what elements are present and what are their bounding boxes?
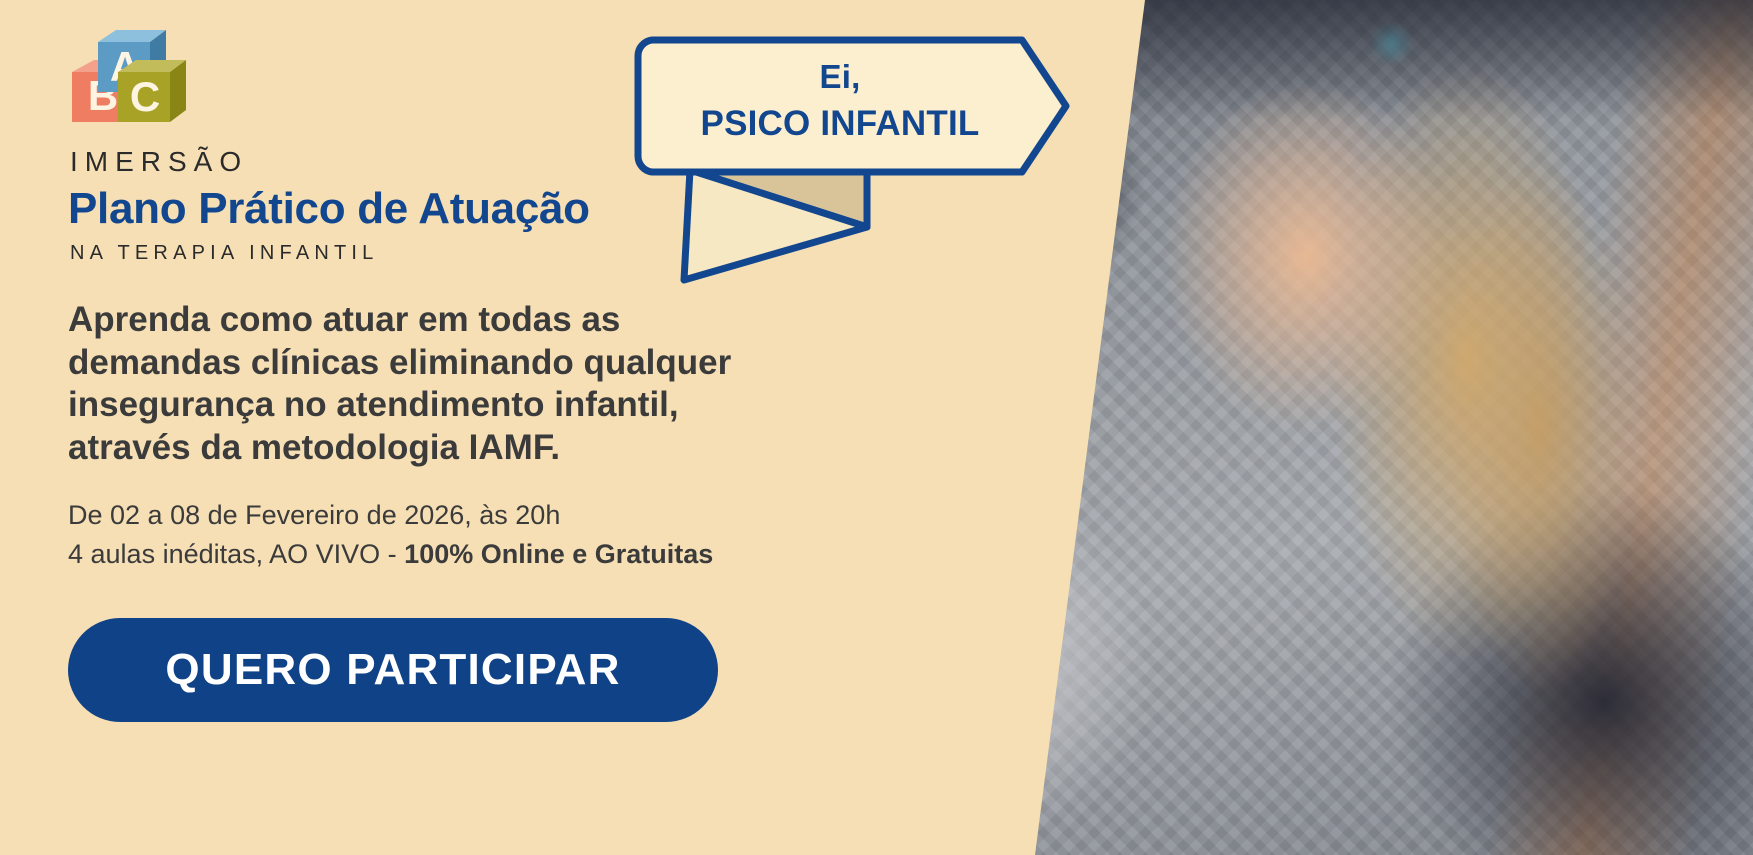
schedule-details-prefix: 4 aulas inéditas, AO VIVO - bbox=[68, 539, 404, 569]
bubble-line-1: Ei, bbox=[670, 58, 1010, 97]
schedule-details-highlight: 100% Online e Gratuitas bbox=[404, 539, 713, 569]
promo-banner: Ei, PSICO INFANTIL B A bbox=[0, 0, 1753, 855]
schedule-details: 4 aulas inéditas, AO VIVO - 100% Online … bbox=[68, 535, 700, 574]
svg-text:C: C bbox=[130, 73, 160, 120]
headline-text: Aprenda como atuar em todas as demandas … bbox=[68, 299, 798, 470]
abc-blocks-icon: B A C bbox=[68, 24, 198, 134]
bubble-line-2: PSICO INFANTIL bbox=[670, 103, 1010, 144]
quero-participar-button[interactable]: QUERO PARTICIPAR bbox=[68, 618, 718, 722]
page-title: Plano Prático de Atuação bbox=[68, 184, 700, 234]
page-subtitle: NA TERAPIA INFANTIL bbox=[70, 242, 700, 265]
content-column: B A C IMERSÃO Plano Prático de bbox=[0, 0, 700, 855]
schedule-date: De 02 a 08 de Fevereiro de 2026, às 20h bbox=[68, 496, 700, 535]
bubble-text: Ei, PSICO INFANTIL bbox=[670, 58, 1010, 144]
kicker-imersao: IMERSÃO bbox=[70, 146, 700, 178]
block-c-icon: C bbox=[118, 60, 186, 122]
